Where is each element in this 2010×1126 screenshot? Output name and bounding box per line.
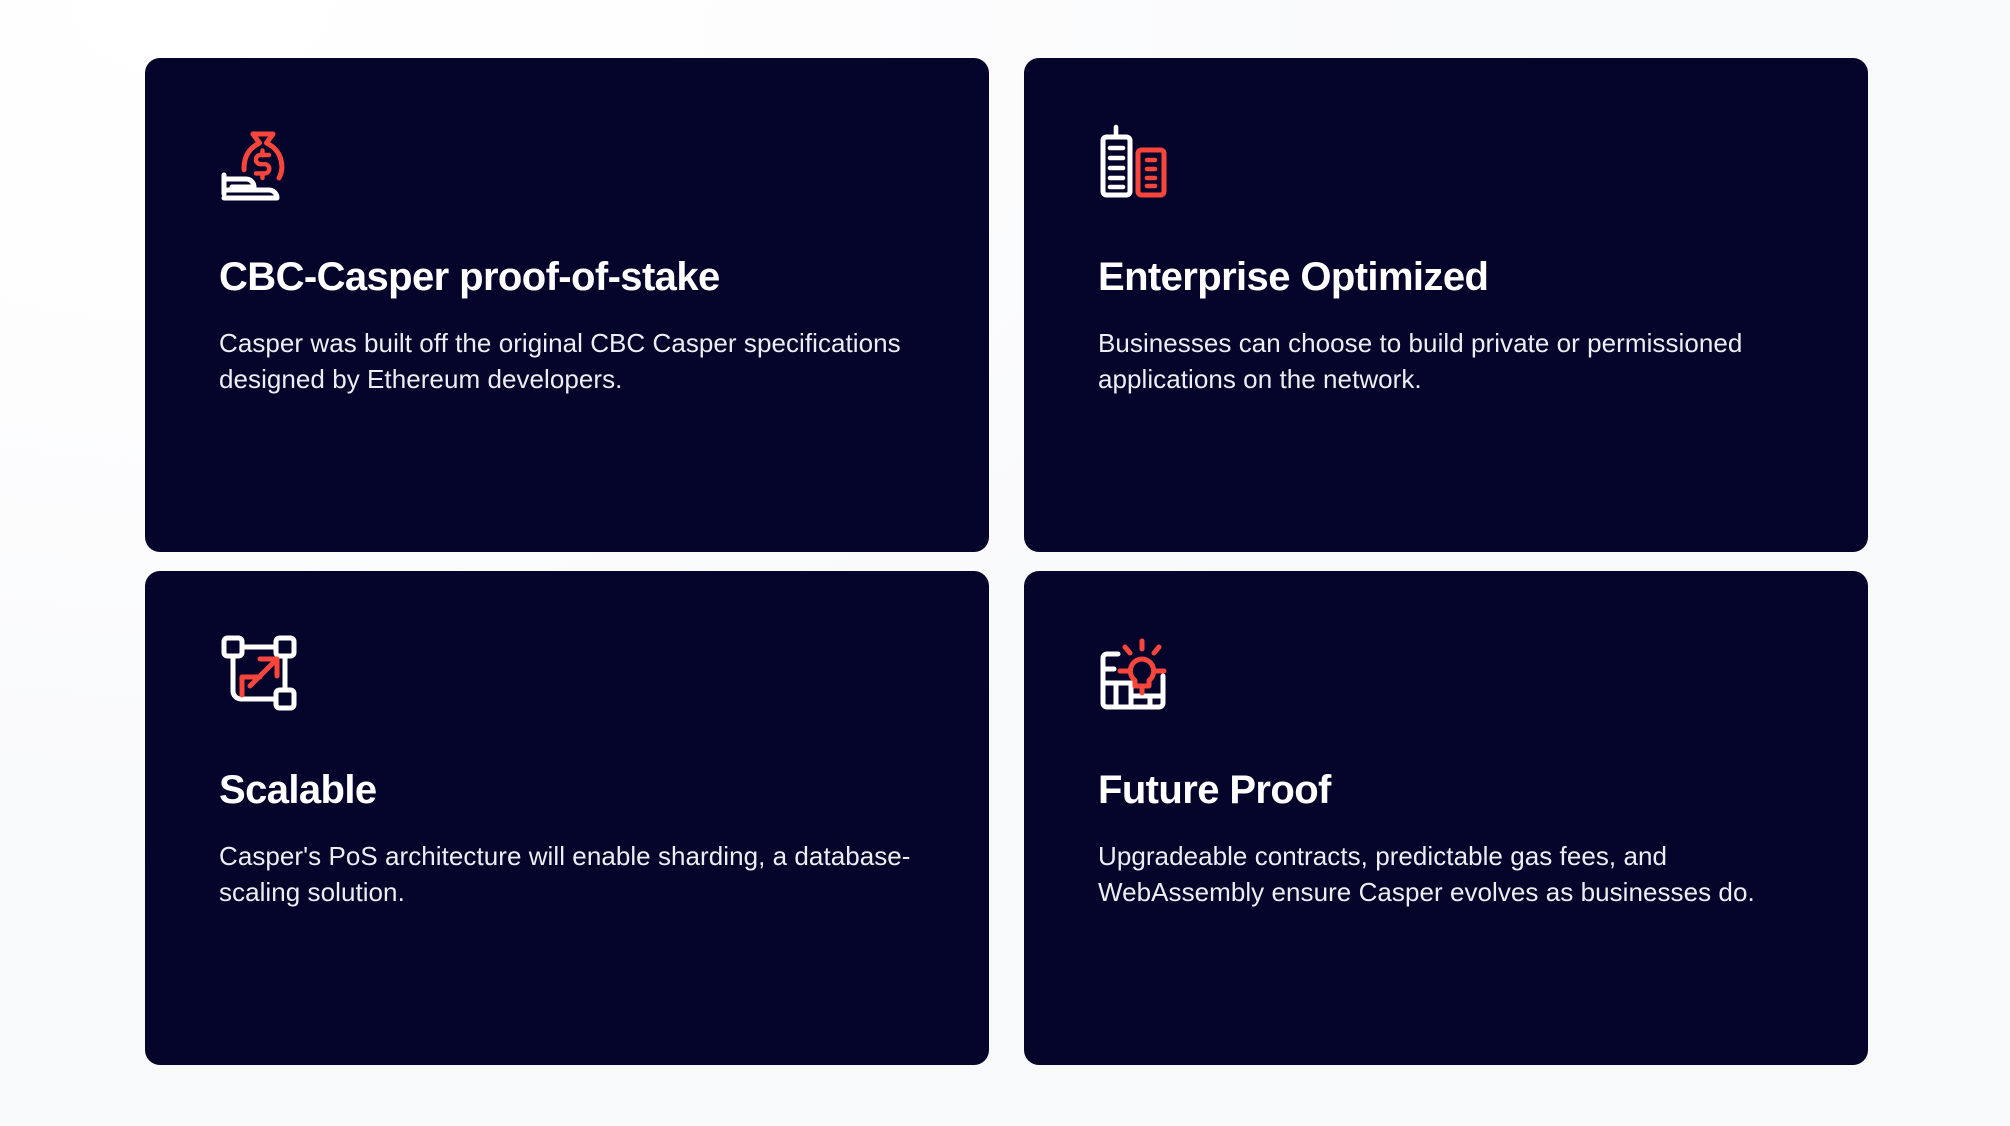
card-title: Future Proof <box>1098 719 1794 813</box>
scale-arrow-icon <box>219 633 305 719</box>
card-description: Casper's PoS architecture will enable sh… <box>219 813 915 910</box>
card-title: Enterprise Optimized <box>1098 206 1794 300</box>
money-bag-icon <box>219 120 305 206</box>
feature-card-scalable[interactable]: Scalable Casper's PoS architecture will … <box>145 571 989 1065</box>
feature-card-future-proof[interactable]: Future Proof Upgradeable contracts, pred… <box>1024 571 1868 1065</box>
card-description: Businesses can choose to build private o… <box>1098 300 1788 397</box>
card-description: Casper was built off the original CBC Ca… <box>219 300 915 397</box>
card-description: Upgradeable contracts, predictable gas f… <box>1098 813 1788 910</box>
feature-card-enterprise-optimized[interactable]: Enterprise Optimized Businesses can choo… <box>1024 58 1868 552</box>
feature-card-grid: CBC-Casper proof-of-stake Casper was bui… <box>145 58 1868 1065</box>
card-title: CBC-Casper proof-of-stake <box>219 206 915 300</box>
feature-card-cbc-casper[interactable]: CBC-Casper proof-of-stake Casper was bui… <box>145 58 989 552</box>
page-root: CBC-Casper proof-of-stake Casper was bui… <box>0 0 2010 1126</box>
office-buildings-icon <box>1098 120 1184 206</box>
lightbulb-blueprint-icon <box>1098 633 1184 719</box>
card-title: Scalable <box>219 719 915 813</box>
